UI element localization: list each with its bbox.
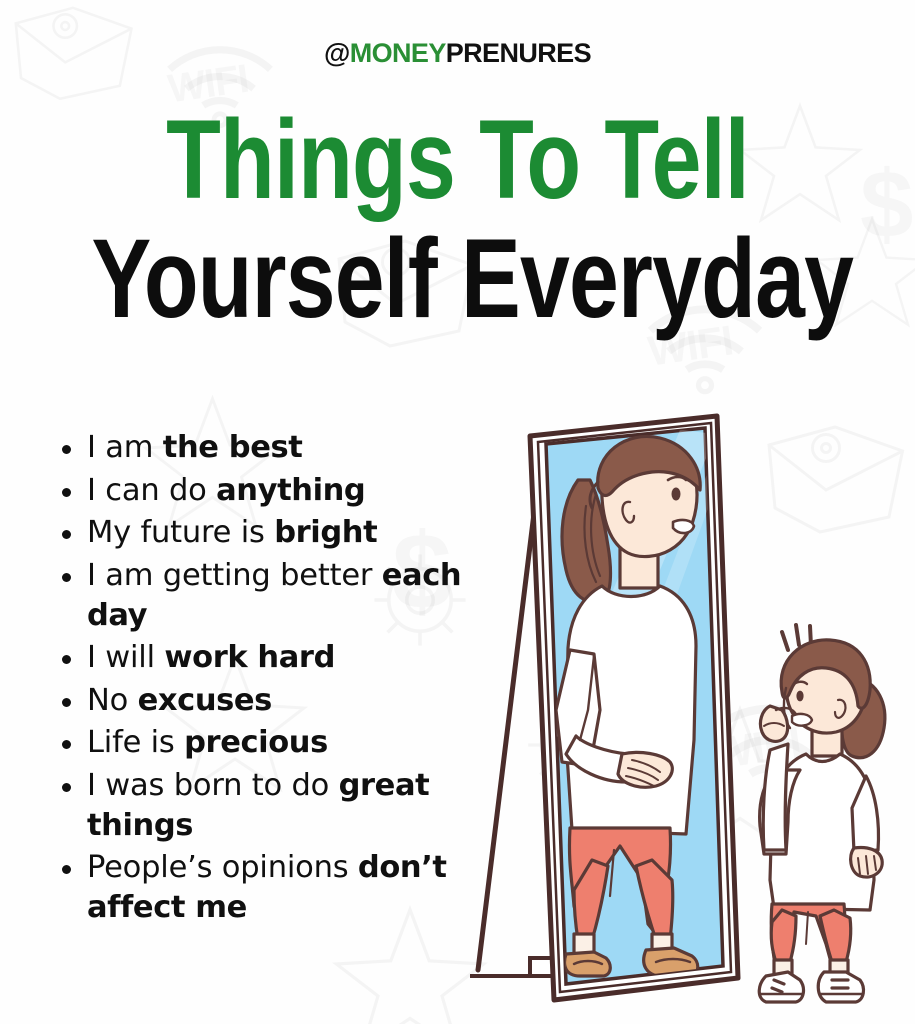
woman-mouth <box>673 520 694 533</box>
poster-canvas: WIFI WIFI WIFI $ $ <box>0 0 915 1024</box>
list-item-plain: My future is <box>87 515 274 550</box>
list-item: I was born to do great things <box>52 766 472 845</box>
list-item-plain: People’s opinions <box>87 850 358 885</box>
list-item-bold: precious <box>184 725 328 760</box>
page-title: Things To Tell Yourself Everyday <box>0 108 915 330</box>
list-item-plain: I am getting better <box>87 558 382 593</box>
girl-raised-forearm <box>763 744 788 850</box>
list-item-bold: bright <box>274 515 377 550</box>
handle-suffix: PRENURES <box>446 38 591 68</box>
list-item-bold: anything <box>216 473 365 508</box>
list-item: I am the best <box>52 428 472 468</box>
list-item-bold: excuses <box>138 683 272 718</box>
handle-brand: MONEY <box>350 38 446 68</box>
list-item: I am getting better each day <box>52 556 472 635</box>
title-line-2: Yourself Everyday <box>92 227 824 330</box>
girl-figure <box>759 625 885 1002</box>
list-item: People’s opinions don’t affect me <box>52 848 472 927</box>
list-item: I will work hard <box>52 638 472 678</box>
list-item: No excuses <box>52 681 472 721</box>
account-handle: @MONEYPRENURES <box>0 38 915 69</box>
list-item-plain: I will <box>87 640 164 675</box>
list-item-plain: I can do <box>87 473 216 508</box>
woman-eye <box>672 488 681 501</box>
list-item: Life is precious <box>52 723 472 763</box>
girl-left-sneaker <box>759 972 803 1002</box>
woman-left-shoe <box>565 952 611 976</box>
girl-right-leg <box>820 910 851 962</box>
affirmations-list: I am the best I can do anything My futur… <box>52 428 472 931</box>
at-symbol: @ <box>324 38 350 68</box>
title-line-1: Things To Tell <box>92 108 824 211</box>
mirror-illustration <box>470 410 915 1024</box>
list-item-plain: No <box>87 683 138 718</box>
girl-mouth <box>792 714 812 726</box>
list-item-plain: I am <box>87 430 163 465</box>
list-item: I can do anything <box>52 471 472 511</box>
girl-pants-crease <box>806 912 808 944</box>
list-item-plain: I was born to do <box>87 768 339 803</box>
list-item-plain: Life is <box>87 725 184 760</box>
girl-left-leg <box>771 910 796 962</box>
list-item: My future is bright <box>52 513 472 553</box>
list-item-bold: the best <box>163 430 303 465</box>
girl-eye <box>796 691 803 702</box>
list-item-bold: work hard <box>164 640 335 675</box>
